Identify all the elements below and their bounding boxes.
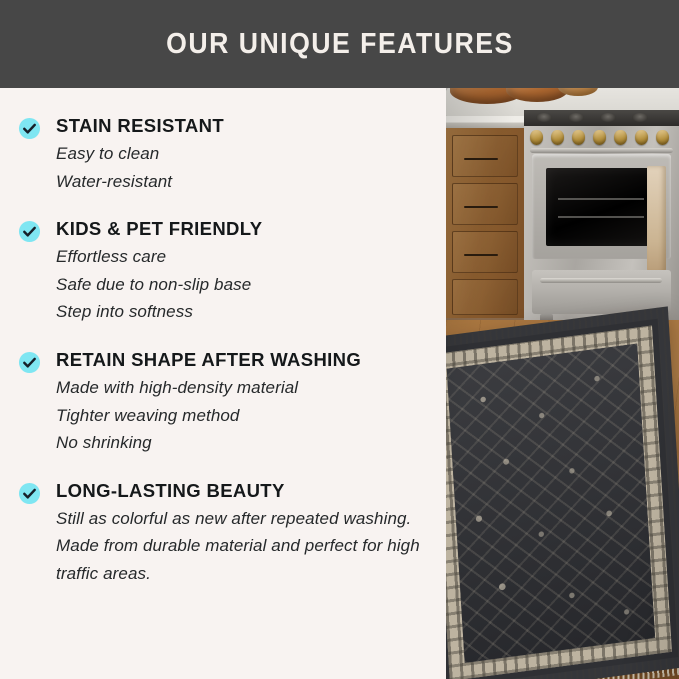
- rug-field-pattern: [447, 344, 655, 663]
- feature-item-stain-resistant: STAIN RESISTANT Easy to clean Water-resi…: [18, 114, 434, 195]
- cabinet-drawer: [452, 183, 518, 225]
- feature-line: Safe due to non-slip base: [56, 271, 434, 299]
- cabinet-handle: [464, 158, 498, 160]
- photo-scene: [446, 88, 679, 679]
- brass-knob: [530, 130, 543, 145]
- feature-line: Tighter weaving method: [56, 402, 434, 430]
- feature-paragraph: Still as colorful as new after repeated …: [56, 505, 428, 588]
- brass-knob: [593, 130, 606, 145]
- feature-line: Effortless care: [56, 243, 434, 271]
- drawer-handle: [540, 278, 662, 283]
- stainless-range: [524, 124, 679, 324]
- brass-knob: [551, 130, 564, 145]
- feature-line: Made with high-density material: [56, 374, 434, 402]
- feature-title: LONG-LASTING BEAUTY: [56, 479, 434, 502]
- cabinet-handle: [464, 206, 498, 208]
- cabinet-drawer: [452, 135, 518, 177]
- linen-towel: [647, 166, 666, 274]
- feature-title: RETAIN SHAPE AFTER WASHING: [56, 348, 434, 371]
- header-bar: OUR UNIQUE FEATURES: [0, 0, 679, 88]
- brass-knob: [635, 130, 648, 145]
- cabinet-handle: [464, 254, 498, 256]
- product-photo: [446, 88, 679, 679]
- cabinet-door: [452, 279, 518, 315]
- oven-handle: [530, 148, 673, 153]
- runner-rug: [446, 306, 679, 679]
- cooktop: [524, 110, 679, 126]
- check-circle-icon: [18, 220, 41, 243]
- feature-lines: Easy to clean Water-resistant: [56, 140, 434, 195]
- feature-line: Easy to clean: [56, 140, 434, 168]
- feature-item-long-lasting-beauty: LONG-LASTING BEAUTY Still as colorful as…: [18, 479, 434, 588]
- feature-item-retain-shape: RETAIN SHAPE AFTER WASHING Made with hig…: [18, 348, 434, 457]
- check-circle-icon: [18, 117, 41, 140]
- feature-line: Step into softness: [56, 298, 434, 326]
- cabinet-drawer: [452, 231, 518, 273]
- burner: [600, 113, 616, 122]
- check-circle-icon: [18, 482, 41, 505]
- features-list: STAIN RESISTANT Easy to clean Water-resi…: [0, 88, 446, 679]
- knob-row: [528, 130, 678, 146]
- feature-lines: Made with high-density material Tighter …: [56, 374, 434, 457]
- feature-item-kids-pet-friendly: KIDS & PET FRIENDLY Effortless care Safe…: [18, 217, 434, 326]
- warming-drawer: [532, 270, 671, 314]
- feature-line: Water-resistant: [56, 168, 434, 196]
- feature-poster: OUR UNIQUE FEATURES STAIN RESISTANT Easy…: [0, 0, 679, 679]
- feature-line: No shrinking: [56, 429, 434, 457]
- burner: [568, 113, 584, 122]
- burner: [536, 113, 552, 122]
- feature-lines: Effortless care Safe due to non-slip bas…: [56, 243, 434, 326]
- check-circle-icon: [18, 351, 41, 374]
- page-title: OUR UNIQUE FEATURES: [166, 28, 514, 61]
- brass-knob: [614, 130, 627, 145]
- brass-knob: [656, 130, 669, 145]
- wood-cabinet: [446, 128, 524, 318]
- brass-knob: [572, 130, 585, 145]
- oven-rack: [558, 198, 644, 200]
- burner: [632, 113, 648, 122]
- oven-rack: [558, 216, 644, 218]
- oven-window: [546, 168, 657, 246]
- feature-title: KIDS & PET FRIENDLY: [56, 217, 434, 240]
- feature-title: STAIN RESISTANT: [56, 114, 434, 137]
